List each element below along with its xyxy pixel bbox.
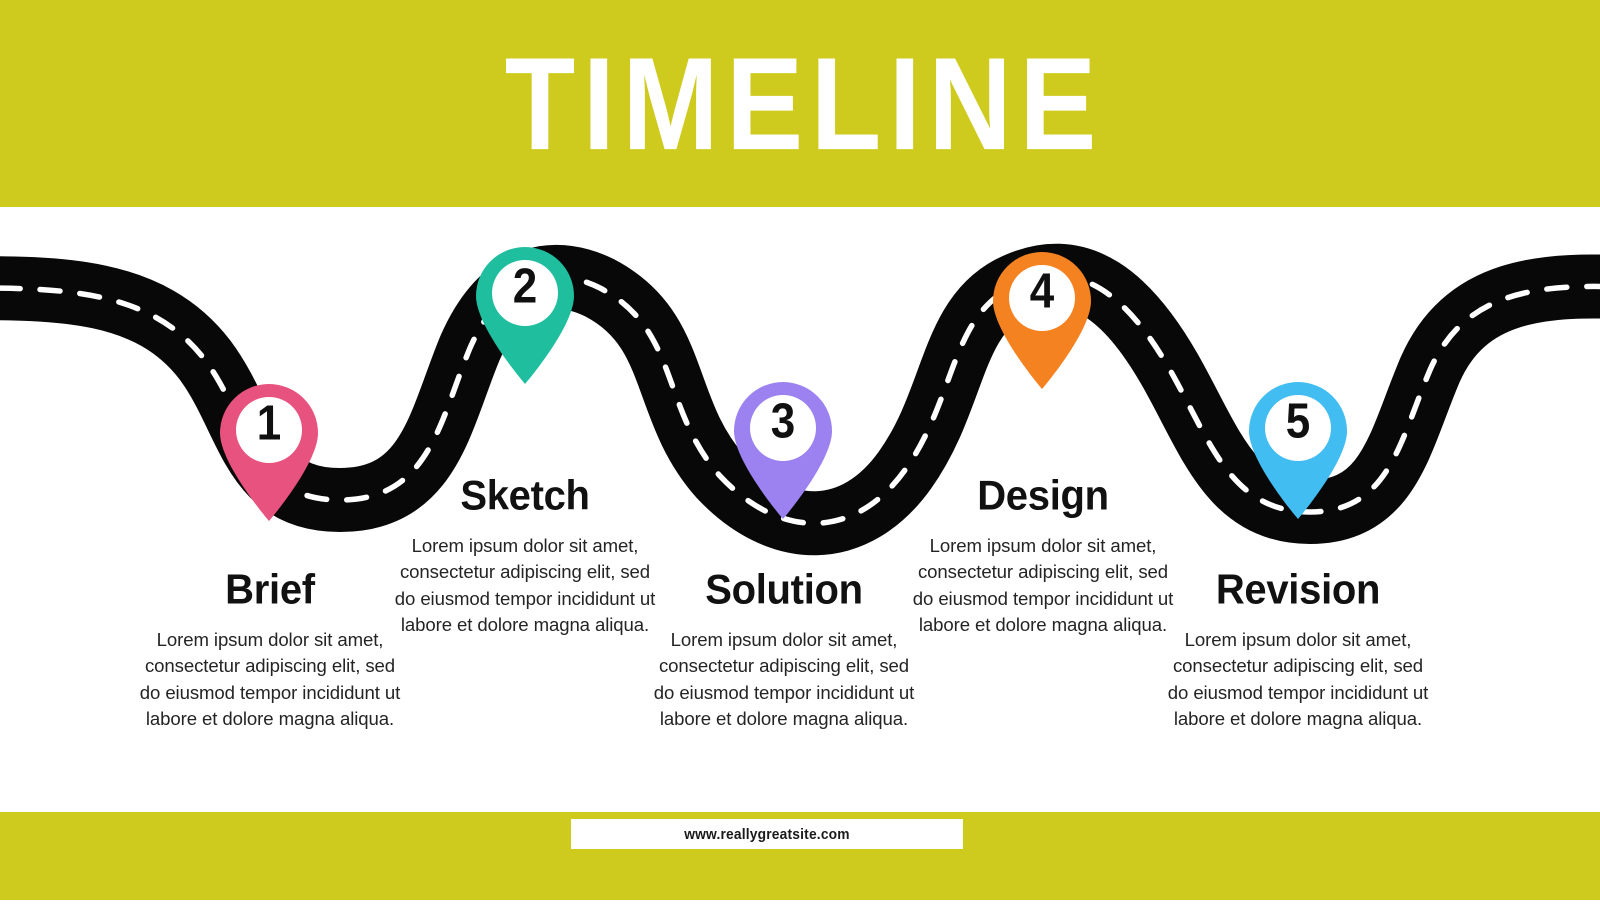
- step-body-2: Lorem ipsum dolor sit amet, consectetur …: [393, 533, 657, 639]
- step-block-1: Brief Lorem ipsum dolor sit amet, consec…: [138, 570, 402, 732]
- step-block-4: Design Lorem ipsum dolor sit amet, conse…: [911, 476, 1175, 638]
- page-title: TIMELINE: [496, 38, 1104, 170]
- step-title-4: Design: [911, 475, 1175, 518]
- pin-number-4: 4: [987, 243, 1097, 342]
- pin-marker-4[interactable]: 4: [987, 248, 1097, 390]
- pin-marker-2[interactable]: 2: [470, 243, 580, 385]
- header-band: TIMELINE: [0, 0, 1600, 207]
- pin-number-2: 2: [470, 238, 580, 337]
- pin-number-1: 1: [214, 375, 324, 474]
- step-block-5: Revision Lorem ipsum dolor sit amet, con…: [1166, 570, 1430, 732]
- step-body-1: Lorem ipsum dolor sit amet, consectetur …: [138, 627, 402, 733]
- step-body-4: Lorem ipsum dolor sit amet, consectetur …: [911, 533, 1175, 639]
- pin-marker-5[interactable]: 5: [1243, 378, 1353, 520]
- step-title-5: Revision: [1166, 569, 1430, 612]
- pin-marker-1[interactable]: 1: [214, 380, 324, 522]
- pin-number-3: 3: [728, 373, 838, 472]
- infographic-canvas: TIMELINE 1 2 3: [0, 0, 1600, 900]
- footer-url-box[interactable]: www.reallygreatsite.com: [571, 819, 963, 849]
- step-block-2: Sketch Lorem ipsum dolor sit amet, conse…: [393, 476, 657, 638]
- pin-number-5: 5: [1243, 373, 1353, 472]
- step-title-1: Brief: [138, 569, 402, 612]
- step-body-3: Lorem ipsum dolor sit amet, consectetur …: [652, 627, 916, 733]
- pin-marker-3[interactable]: 3: [728, 378, 838, 520]
- step-title-3: Solution: [652, 569, 916, 612]
- step-title-2: Sketch: [393, 475, 657, 518]
- step-block-3: Solution Lorem ipsum dolor sit amet, con…: [652, 570, 916, 732]
- footer-url-text: www.reallygreatsite.com: [684, 826, 850, 843]
- step-body-5: Lorem ipsum dolor sit amet, consectetur …: [1166, 627, 1430, 733]
